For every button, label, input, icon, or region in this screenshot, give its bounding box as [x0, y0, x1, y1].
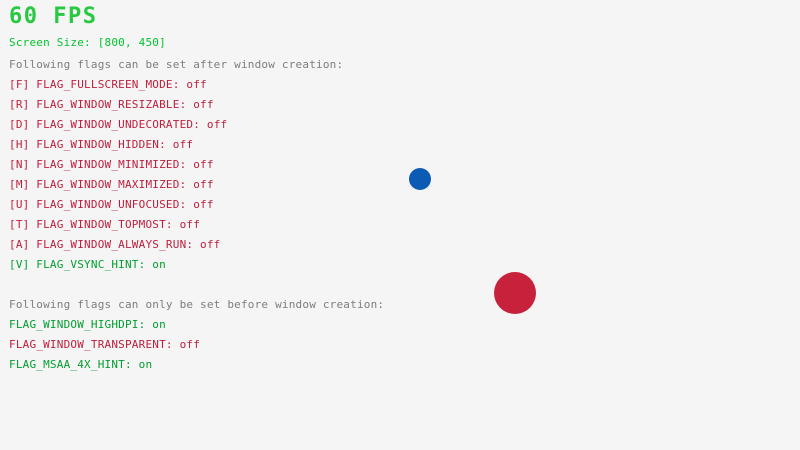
flag-shortcut-key: [D]: [9, 118, 29, 131]
flag-name: FLAG_WINDOW_ALWAYS_RUN:: [29, 238, 193, 251]
flag-row[interactable]: [H] FLAG_WINDOW_HIDDEN: off: [9, 139, 227, 159]
flag-state-value: on: [145, 318, 165, 331]
flag-name: FLAG_WINDOW_HIDDEN:: [29, 138, 165, 151]
flag-name: FLAG_WINDOW_HIGHDPI:: [9, 318, 145, 331]
flag-state-value: off: [193, 238, 220, 251]
section-header-after-creation: Following flags can be set after window …: [9, 59, 343, 70]
flag-row[interactable]: [F] FLAG_FULLSCREEN_MODE: off: [9, 79, 227, 99]
flag-name: FLAG_VSYNC_HINT:: [29, 258, 145, 271]
screen-size-label: Screen Size: [800, 450]: [9, 37, 166, 48]
flag-state-value: on: [145, 258, 165, 271]
flag-row[interactable]: FLAG_WINDOW_TRANSPARENT: off: [9, 339, 200, 359]
section-header-before-creation: Following flags can only be set before w…: [9, 299, 384, 310]
flag-name: FLAG_WINDOW_MAXIMIZED:: [29, 178, 186, 191]
flag-state-value: off: [173, 338, 200, 351]
flag-state-value: off: [180, 78, 207, 91]
flag-name: FLAG_WINDOW_RESIZABLE:: [29, 98, 186, 111]
flag-name: FLAG_MSAA_4X_HINT:: [9, 358, 132, 371]
flag-shortcut-key: [U]: [9, 198, 29, 211]
raylib-window: 60 FPS Screen Size: [800, 450] Following…: [0, 0, 800, 450]
flag-name: FLAG_WINDOW_UNFOCUSED:: [29, 198, 186, 211]
flag-row[interactable]: [R] FLAG_WINDOW_RESIZABLE: off: [9, 99, 227, 119]
flag-row[interactable]: [N] FLAG_WINDOW_MINIMIZED: off: [9, 159, 227, 179]
flag-state-value: off: [186, 158, 213, 171]
flag-row[interactable]: [M] FLAG_WINDOW_MAXIMIZED: off: [9, 179, 227, 199]
flag-list-after-creation: [F] FLAG_FULLSCREEN_MODE: off[R] FLAG_WI…: [9, 79, 227, 279]
flag-row[interactable]: [T] FLAG_WINDOW_TOPMOST: off: [9, 219, 227, 239]
flag-shortcut-key: [N]: [9, 158, 29, 171]
flag-row[interactable]: [A] FLAG_WINDOW_ALWAYS_RUN: off: [9, 239, 227, 259]
flag-name: FLAG_WINDOW_TOPMOST:: [29, 218, 172, 231]
flag-row[interactable]: [V] FLAG_VSYNC_HINT: on: [9, 259, 227, 279]
flag-name: FLAG_WINDOW_MINIMIZED:: [29, 158, 186, 171]
flag-state-value: off: [186, 198, 213, 211]
flag-state-value: off: [186, 98, 213, 111]
flag-list-before-creation: FLAG_WINDOW_HIGHDPI: onFLAG_WINDOW_TRANS…: [9, 319, 200, 379]
flag-row[interactable]: [D] FLAG_WINDOW_UNDECORATED: off: [9, 119, 227, 139]
flag-state-value: off: [166, 138, 193, 151]
flag-state-value: on: [132, 358, 152, 371]
flag-shortcut-key: [F]: [9, 78, 29, 91]
flag-state-value: off: [186, 178, 213, 191]
flag-state-value: off: [173, 218, 200, 231]
fps-counter: 60 FPS: [9, 6, 97, 28]
flag-shortcut-key: [M]: [9, 178, 29, 191]
flag-name: FLAG_FULLSCREEN_MODE:: [29, 78, 179, 91]
flag-shortcut-key: [A]: [9, 238, 29, 251]
flag-row[interactable]: [U] FLAG_WINDOW_UNFOCUSED: off: [9, 199, 227, 219]
flag-row[interactable]: FLAG_WINDOW_HIGHDPI: on: [9, 319, 200, 339]
flag-shortcut-key: [V]: [9, 258, 29, 271]
flag-name: FLAG_WINDOW_TRANSPARENT:: [9, 338, 173, 351]
flag-shortcut-key: [R]: [9, 98, 29, 111]
flag-shortcut-key: [H]: [9, 138, 29, 151]
flag-name: FLAG_WINDOW_UNDECORATED:: [29, 118, 200, 131]
red-ball: [494, 272, 536, 314]
flag-shortcut-key: [T]: [9, 218, 29, 231]
blue-ball: [409, 168, 431, 190]
flag-row[interactable]: FLAG_MSAA_4X_HINT: on: [9, 359, 200, 379]
flag-state-value: off: [200, 118, 227, 131]
